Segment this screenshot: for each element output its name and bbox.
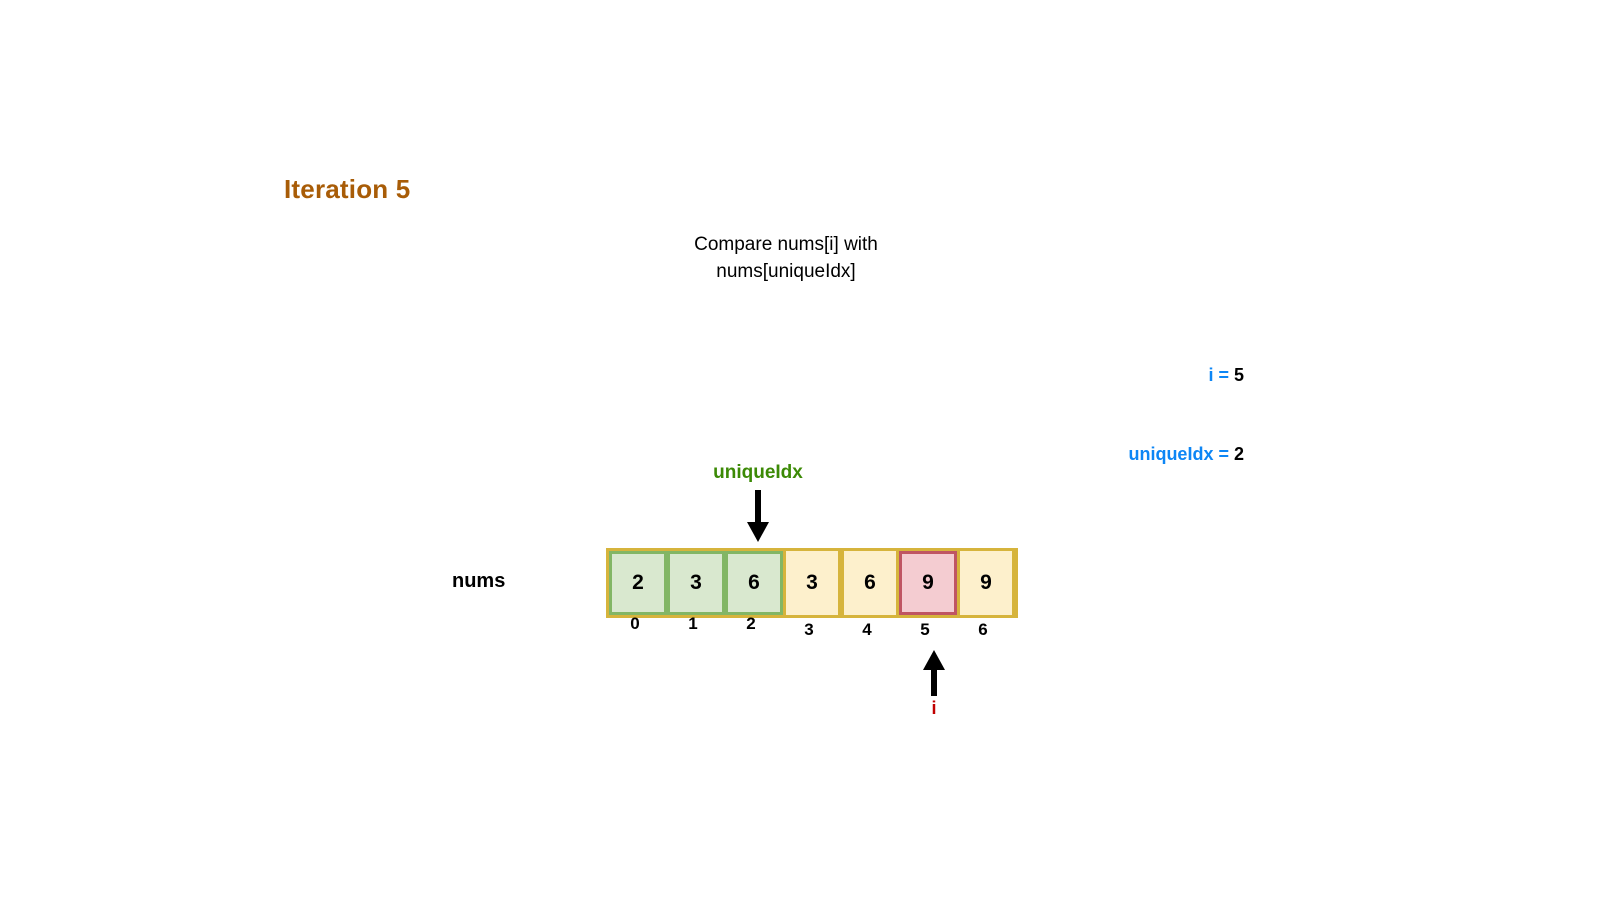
array-index-label: 0 bbox=[606, 614, 664, 634]
uniqueidx-pointer-label: uniqueIdx bbox=[700, 462, 816, 484]
variable-i-value: 5 bbox=[1234, 365, 1244, 385]
i-pointer: i bbox=[876, 650, 992, 719]
array-index-label: 3 bbox=[780, 620, 838, 640]
variable-i: i = 5 bbox=[1208, 365, 1244, 386]
description-line-1: Compare nums[i] with bbox=[636, 231, 936, 258]
array-cell: 3 bbox=[667, 551, 725, 615]
step-description: Compare nums[i] with nums[uniqueIdx] bbox=[636, 231, 936, 285]
arrow-up-icon bbox=[921, 650, 947, 696]
array-cell: 6 bbox=[725, 551, 783, 615]
variable-uniqueidx: uniqueIdx = 2 bbox=[1128, 444, 1244, 465]
array-cell: 3 bbox=[783, 551, 841, 615]
array-cells: 2363699 bbox=[606, 548, 1018, 618]
variable-i-name: i = bbox=[1208, 365, 1229, 385]
array-index-label: 5 bbox=[896, 620, 954, 640]
uniqueidx-pointer: uniqueIdx bbox=[700, 462, 816, 542]
variable-uniqueidx-name: uniqueIdx = bbox=[1128, 444, 1229, 464]
array-cell: 9 bbox=[957, 551, 1015, 615]
array-index-row: 0123456 bbox=[606, 616, 1012, 636]
array-index-label: 6 bbox=[954, 620, 1012, 640]
array-index-label: 4 bbox=[838, 620, 896, 640]
iteration-title: Iteration 5 bbox=[284, 174, 410, 205]
i-pointer-label: i bbox=[876, 698, 992, 719]
array-cell: 2 bbox=[609, 551, 667, 615]
array-index-label: 1 bbox=[664, 614, 722, 634]
variable-uniqueidx-value: 2 bbox=[1234, 444, 1244, 464]
array-container: 2363699 bbox=[606, 548, 1018, 618]
description-line-2: nums[uniqueIdx] bbox=[636, 258, 936, 285]
array-cell: 6 bbox=[841, 551, 899, 615]
array-index-label: 2 bbox=[722, 614, 780, 634]
array-name-label: nums bbox=[452, 570, 505, 593]
array-cell: 9 bbox=[899, 551, 957, 615]
arrow-down-icon bbox=[745, 490, 771, 542]
